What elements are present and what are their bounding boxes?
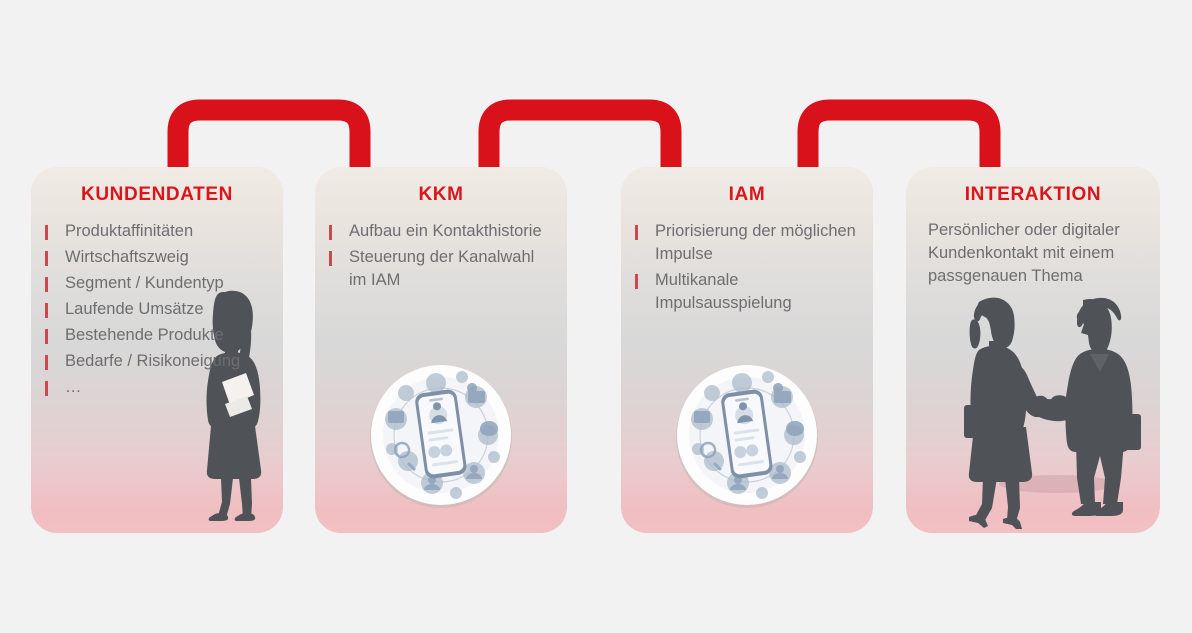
card-title-iam: IAM: [621, 184, 873, 206]
bullet-marker-icon: [45, 303, 48, 318]
stage-card-kkm[interactable]: KKM Aufbau ein Kontakthistorie Steuerung…: [315, 167, 567, 533]
list-item-label: Wirtschaftszweig: [65, 248, 189, 266]
bullet-marker-icon: [45, 225, 48, 240]
list-item: Multikanale Impulsausspielung: [621, 269, 873, 315]
bullet-marker-icon: [45, 277, 48, 292]
list-item-label: Segment / Kundentyp: [65, 274, 224, 292]
list-item: …: [31, 376, 283, 399]
list-item: Aufbau ein Kontakthistorie: [315, 220, 567, 243]
bullet-list-kundendaten: Produktaffinitäten Wirtschaftszweig Segm…: [31, 220, 283, 402]
bullet-marker-icon: [635, 274, 638, 289]
bullet-list-iam: Priorisierung der möglichen Impulse Mult…: [621, 220, 873, 318]
list-item-label: Laufende Umsätze: [65, 300, 204, 318]
list-item-label: Steuerung der Kanalwahl im IAM: [349, 248, 534, 289]
list-item-label: Bedarfe / Risikoneigung: [65, 352, 240, 370]
card-description-interaktion: Persönlicher oder digitaler Kundenkontak…: [906, 219, 1160, 288]
bullet-list-kkm: Aufbau ein Kontakthistorie Steuerung der…: [315, 220, 567, 295]
list-item: Steuerung der Kanalwahl im IAM: [315, 246, 567, 292]
list-item: Priorisierung der möglichen Impulse: [621, 220, 873, 266]
bullet-marker-icon: [45, 329, 48, 344]
handshake-silhouettes-icon: [917, 292, 1149, 529]
list-item-label: Multikanale Impulsausspielung: [655, 271, 792, 312]
list-item-label: …: [65, 378, 82, 396]
bullet-marker-icon: [45, 251, 48, 266]
bullet-marker-icon: [635, 225, 638, 240]
bullet-marker-icon: [45, 381, 48, 396]
list-item: Laufende Umsätze: [31, 298, 283, 321]
list-item: Produktaffinitäten: [31, 220, 283, 243]
diagram-canvas: KUNDENDATEN Produktaffinitäten Wirtschaf…: [0, 0, 1192, 633]
list-item-label: Produktaffinitäten: [65, 222, 193, 240]
bullet-marker-icon: [45, 355, 48, 370]
list-item: Bestehende Produkte: [31, 324, 283, 347]
list-item: Bedarfe / Risikoneigung: [31, 350, 283, 373]
card-title-interaktion: INTERAKTION: [906, 184, 1160, 206]
list-item-label: Bestehende Produkte: [65, 326, 224, 344]
bullet-marker-icon: [329, 251, 332, 266]
list-item-label: Aufbau ein Kontakthistorie: [349, 222, 542, 240]
list-item-label: Priorisierung der möglichen Impulse: [655, 222, 856, 263]
stage-card-interaktion[interactable]: INTERAKTION Persönlicher oder digitaler …: [906, 167, 1160, 533]
stage-card-kundendaten[interactable]: KUNDENDATEN Produktaffinitäten Wirtschaf…: [31, 167, 283, 533]
digital-channels-badge-icon: [668, 357, 826, 515]
card-title-kkm: KKM: [315, 184, 567, 206]
digital-channels-badge-icon: [362, 357, 520, 515]
bullet-marker-icon: [329, 225, 332, 240]
list-item: Segment / Kundentyp: [31, 272, 283, 295]
stage-card-iam[interactable]: IAM Priorisierung der möglichen Impulse …: [621, 167, 873, 533]
list-item: Wirtschaftszweig: [31, 246, 283, 269]
card-title-kundendaten: KUNDENDATEN: [31, 184, 283, 206]
